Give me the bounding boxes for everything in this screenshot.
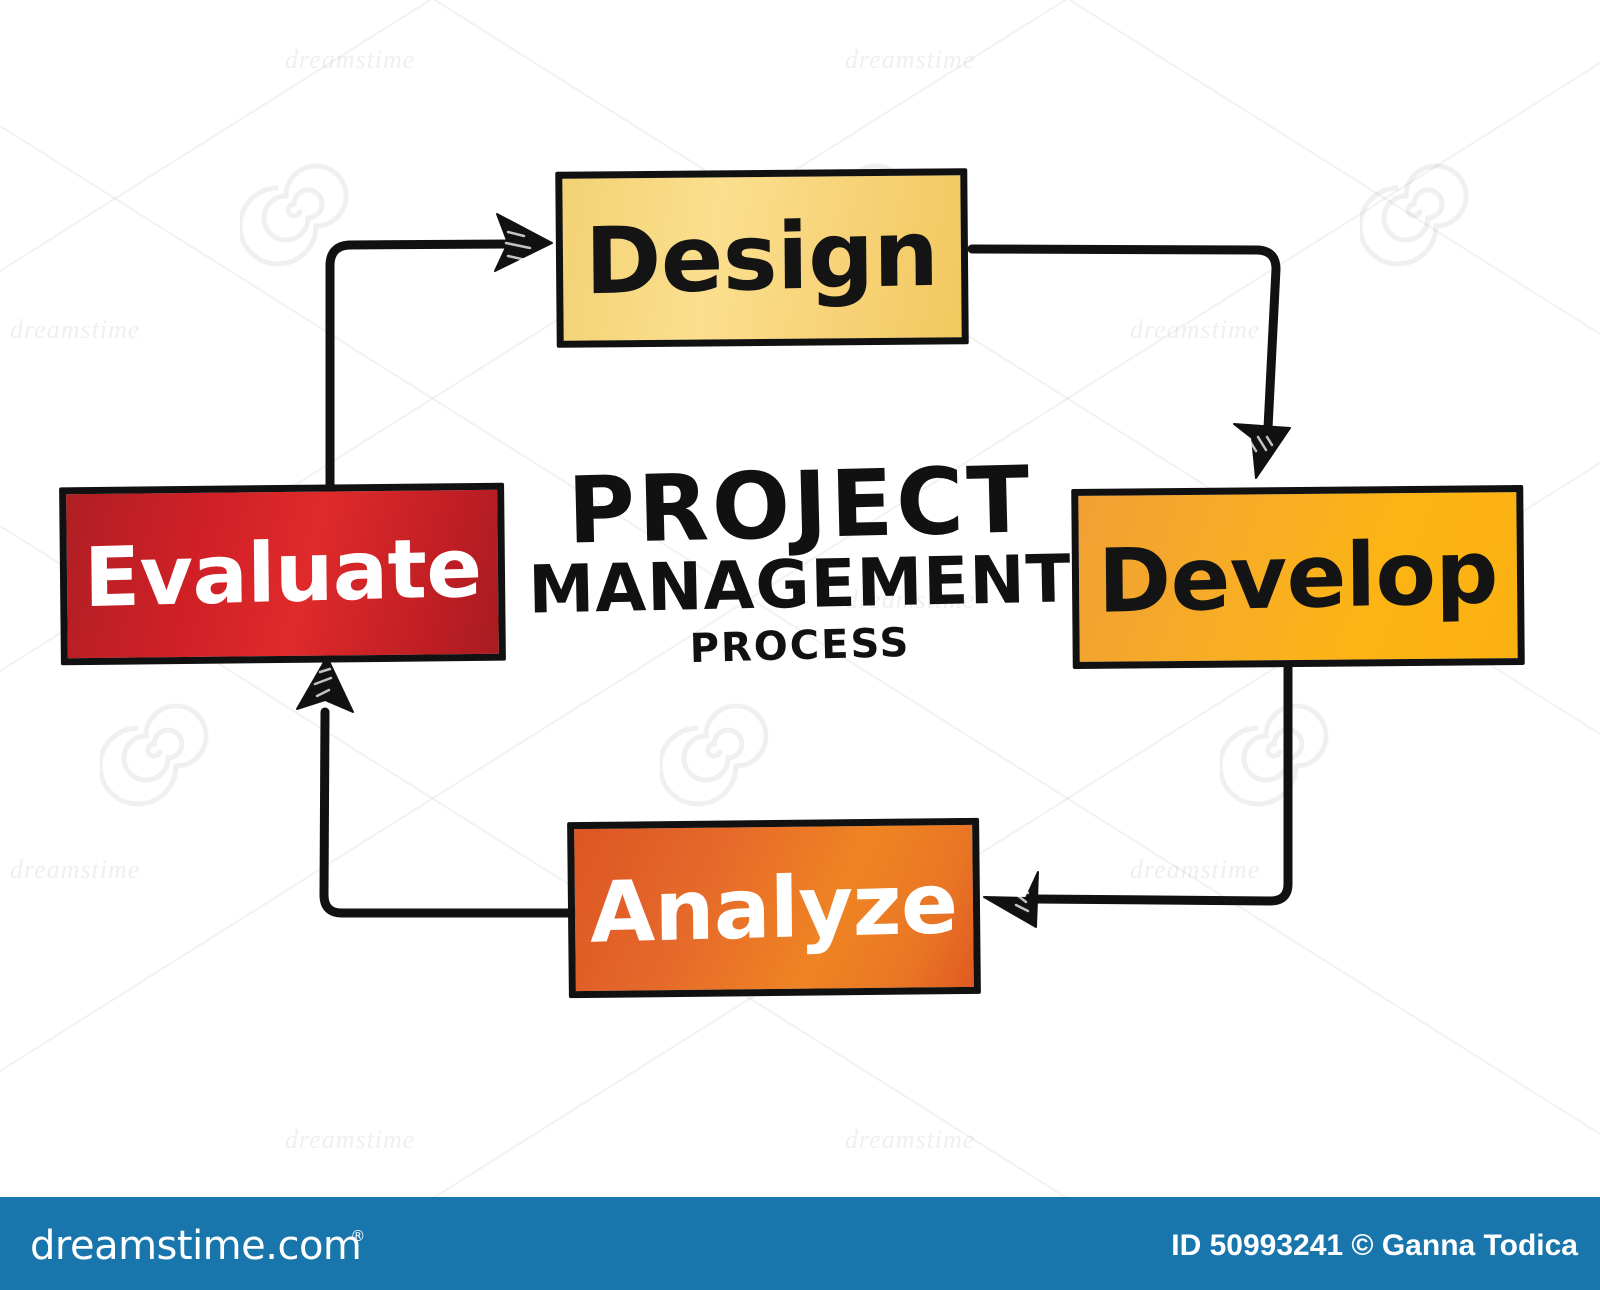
watermark-text: dreamstime xyxy=(285,1125,415,1155)
edge-design-to-develop xyxy=(972,249,1276,428)
edge-evaluate-to-design xyxy=(330,244,510,495)
arrowhead-up-evaluate xyxy=(297,657,353,712)
edge-develop-to-analyze xyxy=(1034,668,1288,901)
watermark-text: dreamstime xyxy=(10,315,140,345)
process-node-analyze[interactable]: Analyze xyxy=(567,818,981,998)
watermark-spiral xyxy=(1360,150,1480,275)
watermark-text: dreamstime xyxy=(845,1125,975,1155)
watermark-spiral xyxy=(100,690,220,815)
image-credit: ID 50993241 © Ganna Todica xyxy=(1171,1229,1578,1263)
watermark-spiral xyxy=(1220,690,1340,815)
diagram-title: PROJECT MANAGEMENT PROCESS xyxy=(520,462,1080,672)
watermark-text: dreamstime xyxy=(10,855,140,885)
arrowhead-hatch xyxy=(315,669,331,696)
process-node-design[interactable]: Design xyxy=(555,168,969,348)
arrowhead-hatch xyxy=(1012,885,1028,911)
edge-analyze-to-evaluate xyxy=(324,712,572,913)
arrowhead-down-develop xyxy=(1234,424,1290,478)
arrowhead-hatch xyxy=(1248,437,1272,451)
title-line-management: MANAGEMENT xyxy=(519,544,1080,625)
stock-footer-bar: dreamstime.com® ID 50993241 © Ganna Todi… xyxy=(0,1197,1600,1290)
process-node-label: Design xyxy=(585,208,939,309)
arrowhead-hatch xyxy=(506,232,530,260)
dreamstime-logo-text: dreamstime.com xyxy=(30,1223,361,1269)
process-node-label: Analyze xyxy=(590,861,958,955)
process-node-label: Develop xyxy=(1098,528,1499,626)
watermark-text: dreamstime xyxy=(1130,855,1260,885)
watermark-spiral xyxy=(660,690,780,815)
watermark-spiral xyxy=(240,150,360,275)
process-node-develop[interactable]: Develop xyxy=(1071,485,1525,669)
screenshot-root: dreamstime dreamstime dreamstime dreamst… xyxy=(0,0,1600,1290)
registered-mark-icon: ® xyxy=(350,1227,365,1245)
watermark-text: dreamstime xyxy=(1130,315,1260,345)
dreamstime-logo[interactable]: dreamstime.com® xyxy=(30,1223,376,1269)
arrowhead-right-design xyxy=(495,214,552,271)
process-node-evaluate[interactable]: Evaluate xyxy=(59,483,506,666)
arrowhead-left-analyze xyxy=(984,872,1038,927)
diagram-canvas: dreamstime dreamstime dreamstime dreamst… xyxy=(0,0,1600,1197)
watermark-text: dreamstime xyxy=(845,45,975,75)
process-node-label: Evaluate xyxy=(83,528,481,620)
watermark-text: dreamstime xyxy=(285,45,415,75)
